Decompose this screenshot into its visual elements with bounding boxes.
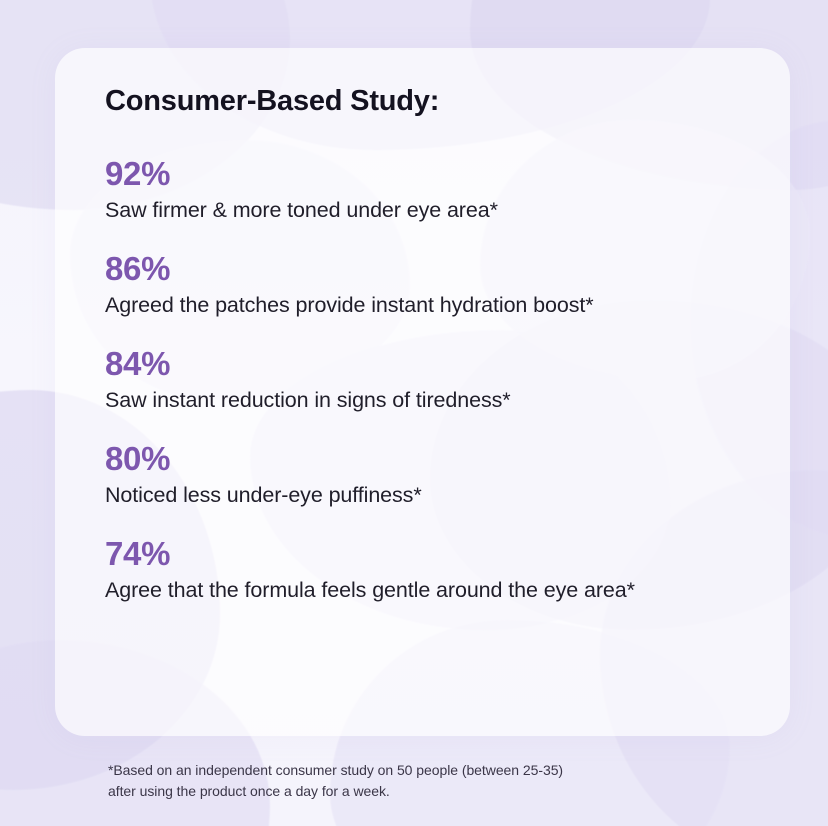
stat-value: 84% [105, 345, 805, 384]
stat-label: Noticed less under-eye puffiness* [105, 480, 805, 511]
stat-label: Saw firmer & more toned under eye area* [105, 195, 805, 226]
stat-list: 92% Saw firmer & more toned under eye ar… [105, 155, 805, 607]
stat-value: 74% [105, 535, 805, 574]
stat-value: 86% [105, 250, 805, 289]
stat-value: 80% [105, 440, 805, 479]
stat-label: Agree that the formula feels gentle arou… [105, 575, 805, 606]
stat-item: 80% Noticed less under-eye puffiness* [105, 440, 805, 511]
footnote-line-2: after using the product once a day for a… [108, 781, 748, 802]
stat-item: 92% Saw firmer & more toned under eye ar… [105, 155, 805, 226]
footnote-line-1: *Based on an independent consumer study … [108, 760, 748, 781]
stat-value: 92% [105, 155, 805, 194]
page-title: Consumer-Based Study: [105, 48, 805, 119]
study-infographic: Consumer-Based Study: 92% Saw firmer & m… [0, 0, 828, 826]
stat-label: Agreed the patches provide instant hydra… [105, 290, 805, 321]
stat-label: Saw instant reduction in signs of tiredn… [105, 385, 805, 416]
stat-item: 74% Agree that the formula feels gentle … [105, 535, 805, 606]
stat-item: 86% Agreed the patches provide instant h… [105, 250, 805, 321]
stat-item: 84% Saw instant reduction in signs of ti… [105, 345, 805, 416]
footnote-disclaimer: *Based on an independent consumer study … [108, 760, 748, 803]
study-content: Consumer-Based Study: 92% Saw firmer & m… [105, 48, 805, 606]
